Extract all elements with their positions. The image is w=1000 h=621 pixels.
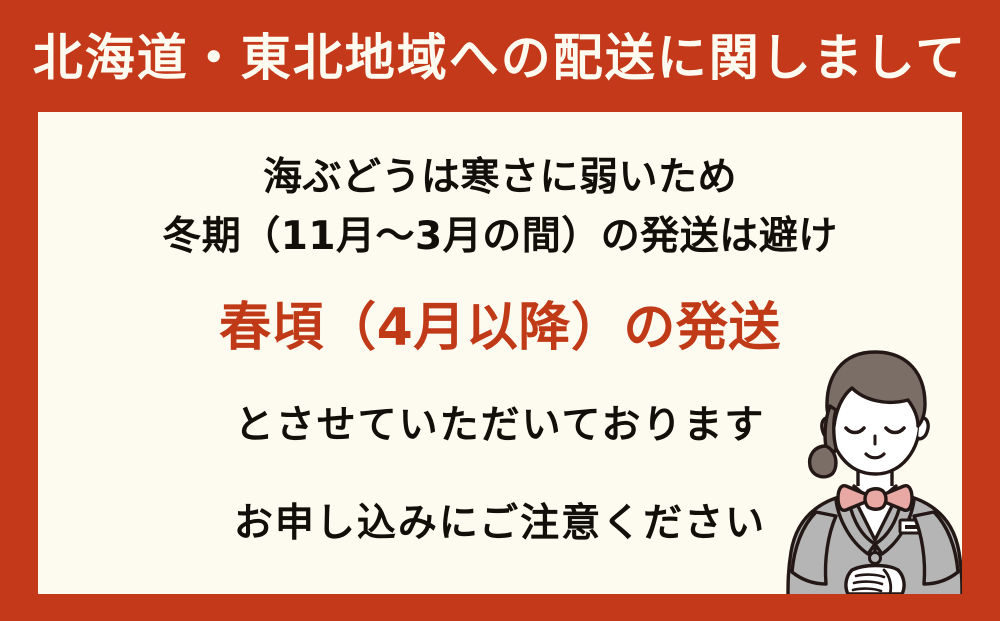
notice-line-2: 冬期（11月〜3月の間）の発送は避け — [38, 213, 962, 261]
shipping-notice-banner: 北海道・東北地域への配送に関しまして 海ぶどうは寒さに弱いため 冬期（11月〜3… — [0, 0, 1000, 621]
page-title: 北海道・東北地域への配送に関しまして — [0, 26, 1000, 90]
bowing-staff-woman-illustration — [780, 344, 962, 594]
notice-line-1: 海ぶどうは寒さに弱いため — [38, 154, 962, 202]
notice-panel: 海ぶどうは寒さに弱いため 冬期（11月〜3月の間）の発送は避け 春頃（4月以降）… — [38, 112, 962, 594]
